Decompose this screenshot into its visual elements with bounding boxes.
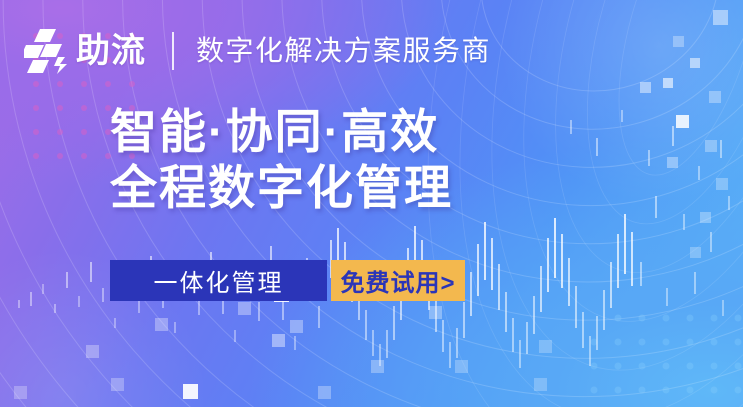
free-trial-button[interactable]: 免费试用> xyxy=(331,260,465,301)
cta-row: 一体化管理 免费试用> xyxy=(110,260,465,301)
header-divider xyxy=(172,32,174,70)
top-right-glow xyxy=(493,0,743,210)
promo-banner: 助流 数字化解决方案服务商 智能·协同·高效 全程数字化管理 一体化管理 免费试… xyxy=(0,0,743,407)
headline-line-2: 全程数字化管理 xyxy=(110,160,453,216)
integrated-management-button[interactable]: 一体化管理 xyxy=(110,260,327,301)
headline-block: 智能·协同·高效 全程数字化管理 xyxy=(110,104,453,216)
zhuliu-flow-bolt-logo-icon xyxy=(24,27,70,75)
brand-tagline: 数字化解决方案服务商 xyxy=(196,37,491,65)
headline-line-1: 智能·协同·高效 xyxy=(110,104,453,160)
logo-wordmark: 助流 xyxy=(76,34,146,68)
brand-header: 助流 数字化解决方案服务商 xyxy=(24,27,491,75)
